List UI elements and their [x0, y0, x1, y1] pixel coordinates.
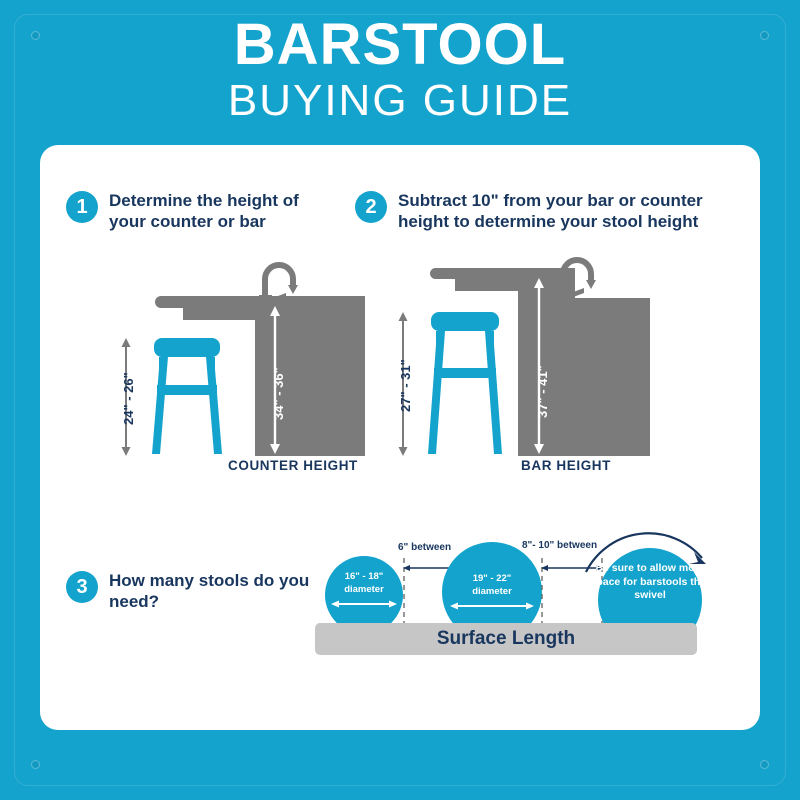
title-line-1: BARSTOOL	[0, 16, 800, 74]
step-1-heading: 1 Determine the height of your counter o…	[66, 190, 336, 233]
stool-circle-2-diameter: 19" - 22"	[442, 573, 542, 585]
step-3-badge: 3	[66, 571, 98, 603]
counter-height-caption: COUNTER HEIGHT	[228, 458, 358, 473]
surface-length-label: Surface Length	[437, 628, 575, 650]
stool-circle-1-unit: diameter	[325, 584, 403, 596]
surface-length-bar: Surface Length	[315, 623, 697, 655]
screw-icon-bottom-right	[760, 760, 769, 769]
bar-stool-height-label: 27" - 31"	[398, 359, 413, 412]
stool-circle-2-diameter-arrow	[450, 601, 534, 611]
counter-surface-height-label: 34" - 36"	[271, 367, 286, 420]
swivel-rotation-arrow-icon	[582, 536, 712, 576]
poster-title: BARSTOOL BUYING GUIDE	[0, 16, 800, 127]
title-line-2: BUYING GUIDE	[0, 76, 800, 127]
screw-icon-bottom-left	[31, 760, 40, 769]
stool-circle-2-unit: diameter	[442, 586, 542, 598]
step-2-badge: 2	[355, 191, 387, 223]
step-2-heading: 2 Subtract 10" from your bar or counter …	[355, 190, 755, 233]
infographic-poster: BARSTOOL BUYING GUIDE 1 Determine the he…	[0, 0, 800, 800]
bar-stool-icon	[425, 312, 505, 456]
bar-surface-height-label: 37" - 41"	[535, 365, 550, 418]
step-3-heading: 3 How many stools do you need?	[66, 570, 326, 613]
step-3-text: How many stools do you need?	[109, 570, 326, 613]
counter-stool-height-label: 24" - 26"	[121, 372, 136, 425]
stool-circle-1-diameter-arrow	[331, 599, 397, 609]
step-1-badge: 1	[66, 191, 98, 223]
bar-height-caption: BAR HEIGHT	[521, 458, 611, 473]
stool-circle-1-diameter: 16" - 18"	[325, 571, 403, 583]
step-2-text: Subtract 10" from your bar or counter he…	[398, 190, 755, 233]
step-1-text: Determine the height of your counter or …	[109, 190, 336, 233]
counter-stool-icon	[148, 338, 226, 456]
